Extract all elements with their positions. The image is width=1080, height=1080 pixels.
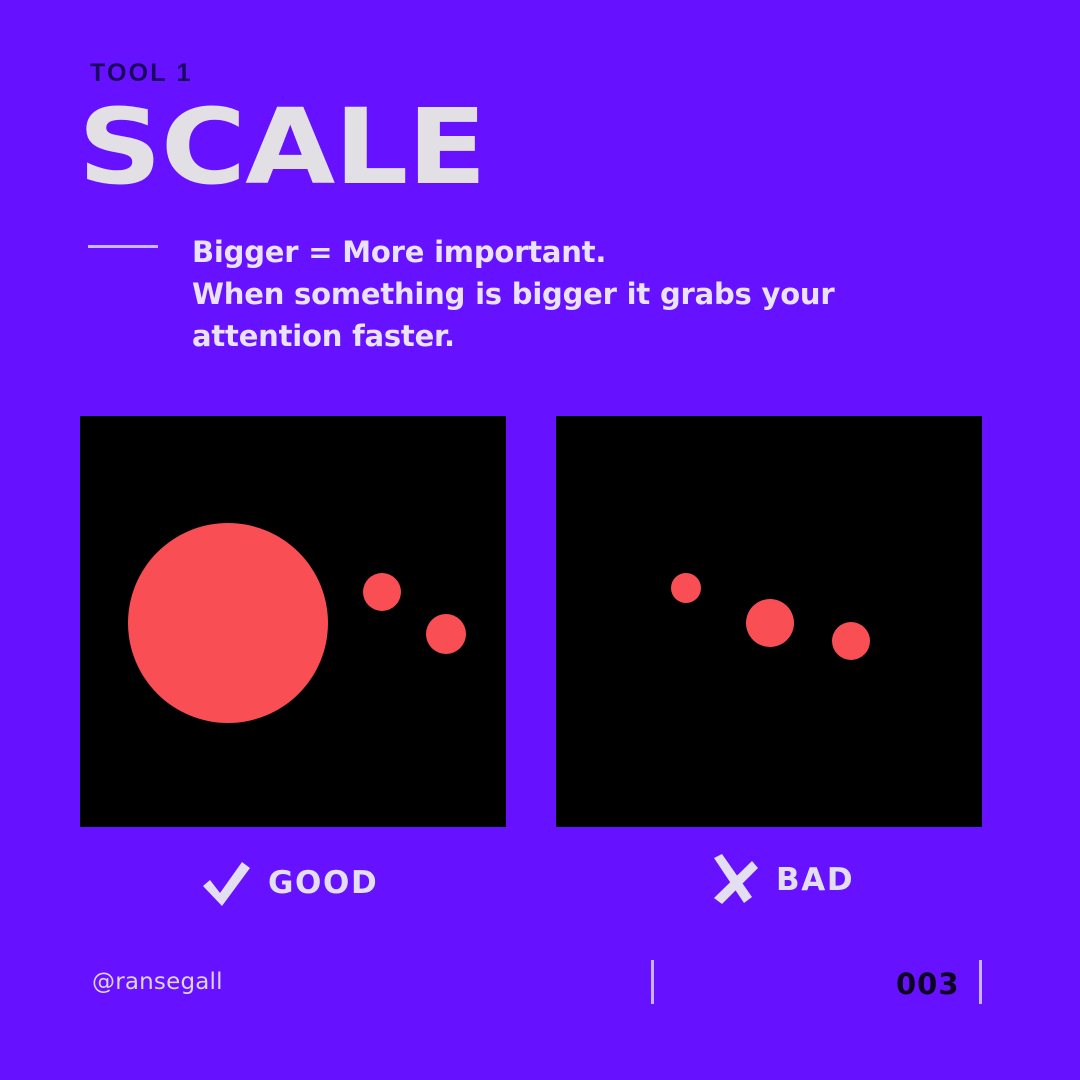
check-icon <box>198 855 252 911</box>
scale-dot-good-3 <box>426 614 466 654</box>
slide-canvas: TOOL 1 SCALE Bigger = More important. Wh… <box>0 0 1080 1080</box>
page-number: 003 <box>896 967 960 1001</box>
x-icon <box>706 852 760 908</box>
subtitle-block: Bigger = More important. When something … <box>192 231 892 357</box>
caption-bad-label: BAD <box>776 862 854 898</box>
page-title: SCALE <box>78 95 486 199</box>
subtitle-line-2: When something is bigger it grabs your <box>192 273 892 315</box>
scale-dot-bad-1 <box>671 573 701 603</box>
caption-bad: BAD <box>706 852 854 908</box>
scale-dot-bad-3 <box>832 622 870 660</box>
scale-dot-good-2 <box>363 573 401 611</box>
subtitle-line-1: Bigger = More important. <box>192 231 892 273</box>
caption-good-label: GOOD <box>268 865 378 901</box>
subtitle-line-3: attention faster. <box>192 315 892 357</box>
eyebrow-label: TOOL 1 <box>90 59 193 88</box>
author-handle[interactable]: @ransegall <box>92 969 223 995</box>
scale-dot-bad-2 <box>746 599 794 647</box>
footer-divider-1 <box>651 960 654 1004</box>
footer-divider-2 <box>979 960 982 1004</box>
caption-good: GOOD <box>198 855 378 911</box>
scale-dot-good-1 <box>128 523 328 723</box>
subtitle-rule <box>88 245 158 248</box>
